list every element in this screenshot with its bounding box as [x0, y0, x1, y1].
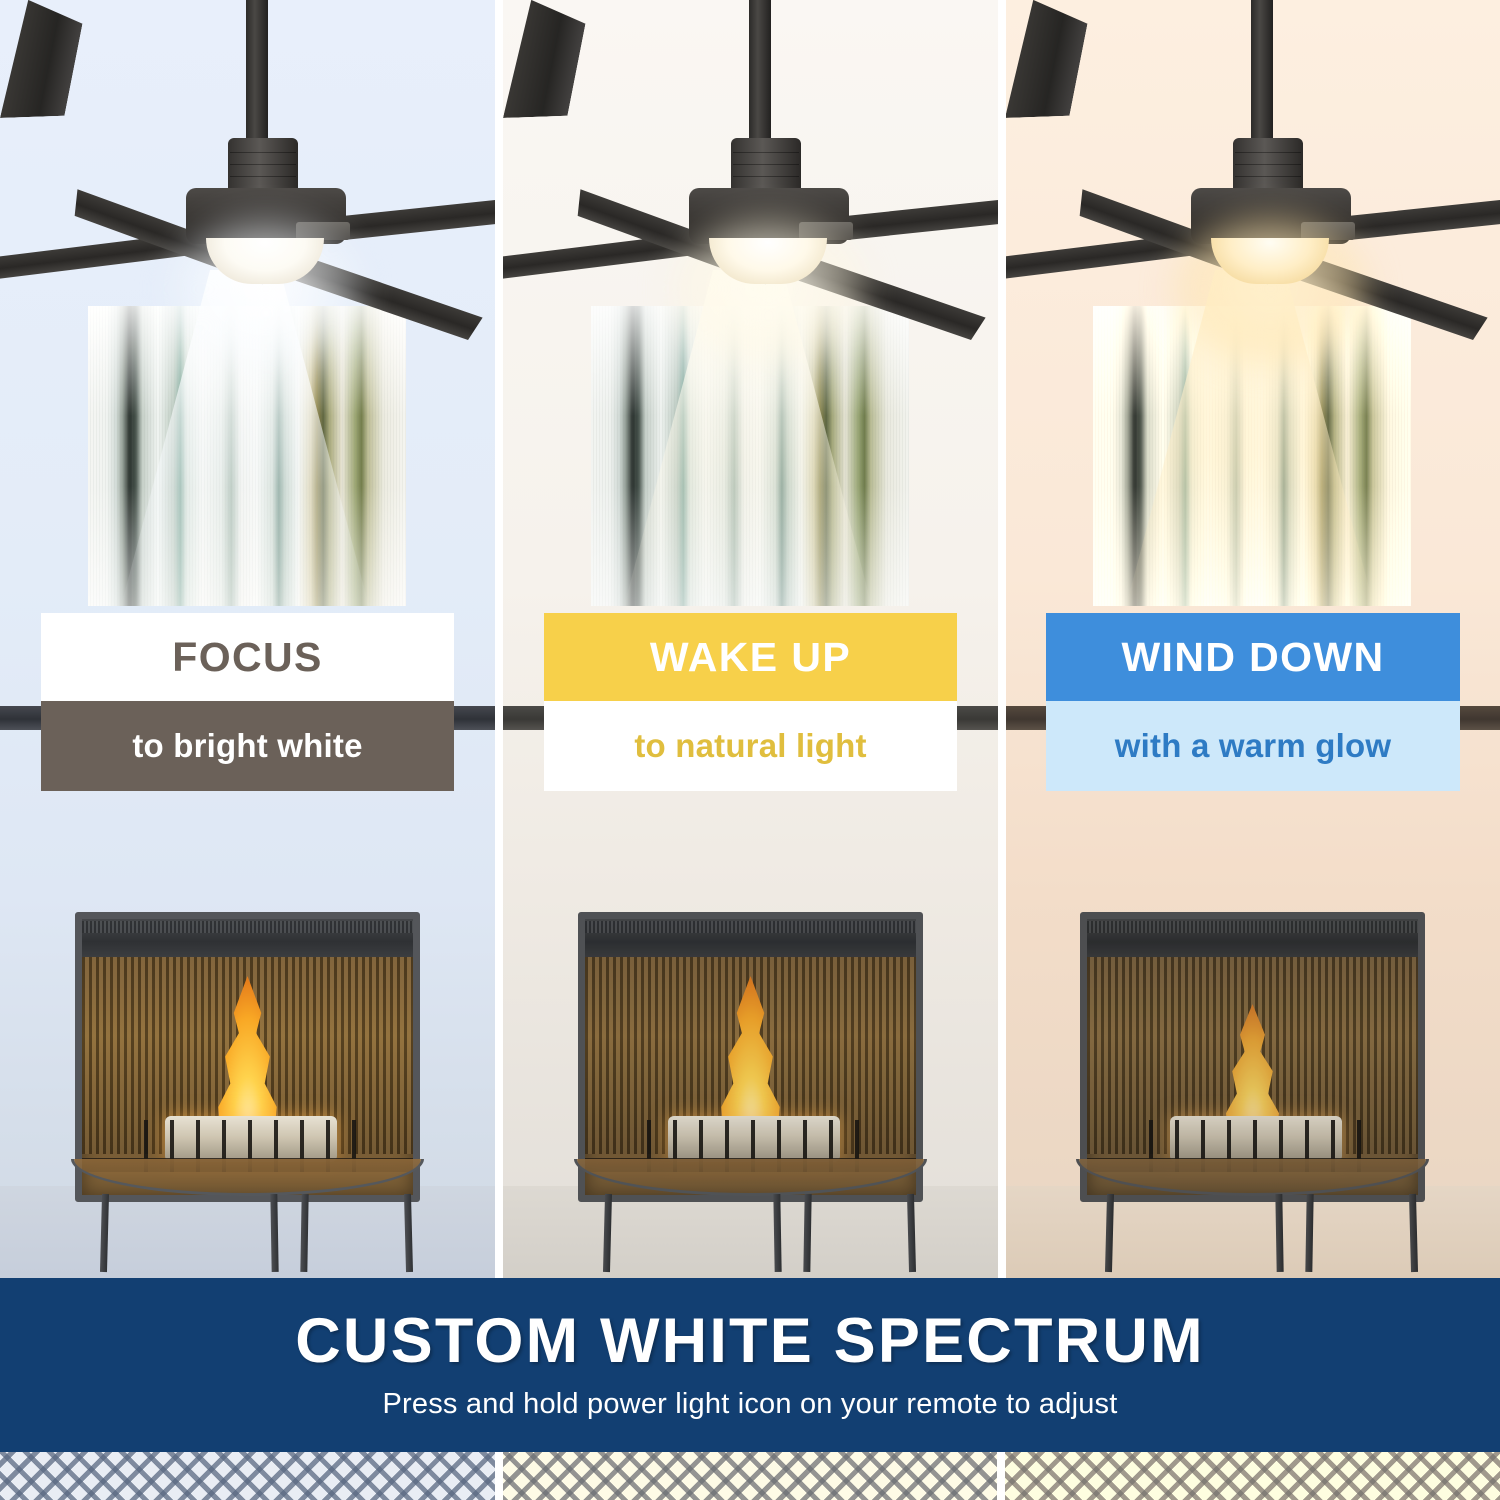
panel-wake-up[interactable]: WAKE UP to natural light [503, 0, 998, 1278]
panel-divider [998, 0, 1006, 1278]
fan-blade [0, 0, 88, 118]
fireplace-leg [300, 1194, 308, 1272]
fireplace-hood [1087, 919, 1418, 957]
panel-divider [997, 1452, 1005, 1500]
fan-downrod [749, 0, 771, 150]
fireplace [578, 912, 923, 1202]
rug-panel [0, 1452, 495, 1500]
panel-divider [495, 1452, 503, 1500]
light-glow [1173, 214, 1369, 364]
product-feature-graphic: FOCUS to bright white [0, 0, 1500, 1500]
fireplace-leg [803, 1194, 811, 1272]
light-glow [168, 214, 364, 364]
banner-subtitle: Press and hold power light icon on your … [383, 1388, 1118, 1421]
fireplace-leg [1275, 1194, 1283, 1272]
fireplace [1080, 912, 1425, 1202]
fan-downrod [1251, 0, 1273, 150]
artwork-drip [88, 486, 406, 606]
bottom-banner: CUSTOM WHITE SPECTRUM Press and hold pow… [0, 1278, 1500, 1452]
comparison-panels: FOCUS to bright white [0, 0, 1500, 1278]
artwork-drip [591, 486, 909, 606]
fireplace-leg [1305, 1194, 1313, 1272]
fireplace-leg [270, 1194, 278, 1272]
panel-wind-down[interactable]: WIND DOWN with a warm glow [1005, 0, 1500, 1278]
banner-title: CUSTOM WHITE SPECTRUM [295, 1310, 1205, 1373]
artwork-drip [1093, 486, 1411, 606]
mode-label-group-wake-up: WAKE UP to natural light [544, 613, 957, 791]
mode-title-wake-up: WAKE UP [544, 613, 957, 701]
mode-title-focus: FOCUS [41, 613, 454, 701]
mode-subtitle-wind-down: with a warm glow [1046, 701, 1460, 791]
ceiling-fan [503, 0, 998, 330]
panel-focus[interactable]: FOCUS to bright white [0, 0, 495, 1278]
mode-title-wind-down: WIND DOWN [1046, 613, 1460, 701]
ceiling-fan [1005, 0, 1500, 330]
mode-label-group-wind-down: WIND DOWN with a warm glow [1046, 613, 1460, 791]
rug-strip [0, 1452, 1500, 1500]
mode-label-group-focus: FOCUS to bright white [41, 613, 454, 791]
mode-subtitle-focus: to bright white [41, 701, 454, 791]
mode-subtitle-wake-up: to natural light [544, 701, 957, 791]
light-glow [671, 214, 867, 364]
rug-panel [503, 1452, 998, 1500]
fireplace [75, 912, 420, 1202]
fireplace-hood [82, 919, 413, 957]
fireplace-hood [585, 919, 916, 957]
panel-divider [495, 0, 503, 1278]
fan-downrod [246, 0, 268, 150]
fireplace-leg [773, 1194, 781, 1272]
rug-panel [1005, 1452, 1500, 1500]
fan-blade [503, 0, 591, 118]
fan-blade [1005, 0, 1093, 118]
ceiling-fan [0, 0, 495, 330]
